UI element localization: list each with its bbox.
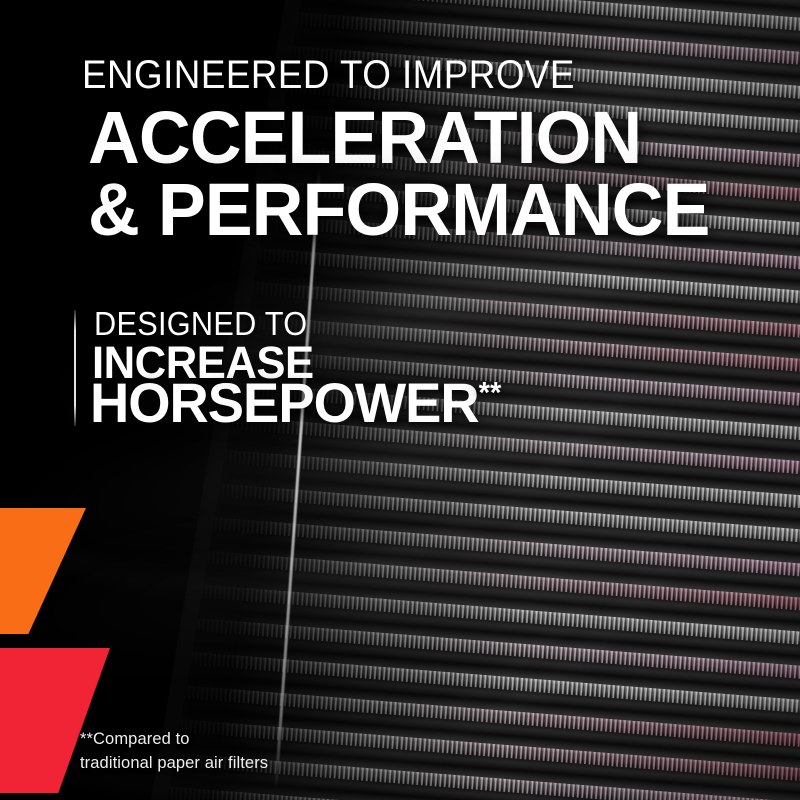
headline-line-2: & PERFORMANCE xyxy=(88,175,709,245)
subhead-line-2-text: HORSEPOWER xyxy=(90,371,479,434)
subhead-line-2: HORSEPOWER** xyxy=(90,375,501,431)
headline-eyebrow: ENGINEERED TO IMPROVE xyxy=(82,55,575,95)
headline-line-1: ACCELERATION xyxy=(88,103,641,173)
subhead-eyebrow: DESIGNED TO xyxy=(94,307,307,340)
footnote: **Compared to traditional paper air filt… xyxy=(80,728,268,776)
footnote-line-1: **Compared to xyxy=(80,728,268,752)
footnote-marker: ** xyxy=(479,376,502,409)
copy-layer: ENGINEERED TO IMPROVE ACCELERATION & PER… xyxy=(0,0,800,800)
promo-banner: ENGINEERED TO IMPROVE ACCELERATION & PER… xyxy=(0,0,800,800)
footnote-line-2: traditional paper air filters xyxy=(80,752,268,776)
accent-rule xyxy=(74,310,76,426)
